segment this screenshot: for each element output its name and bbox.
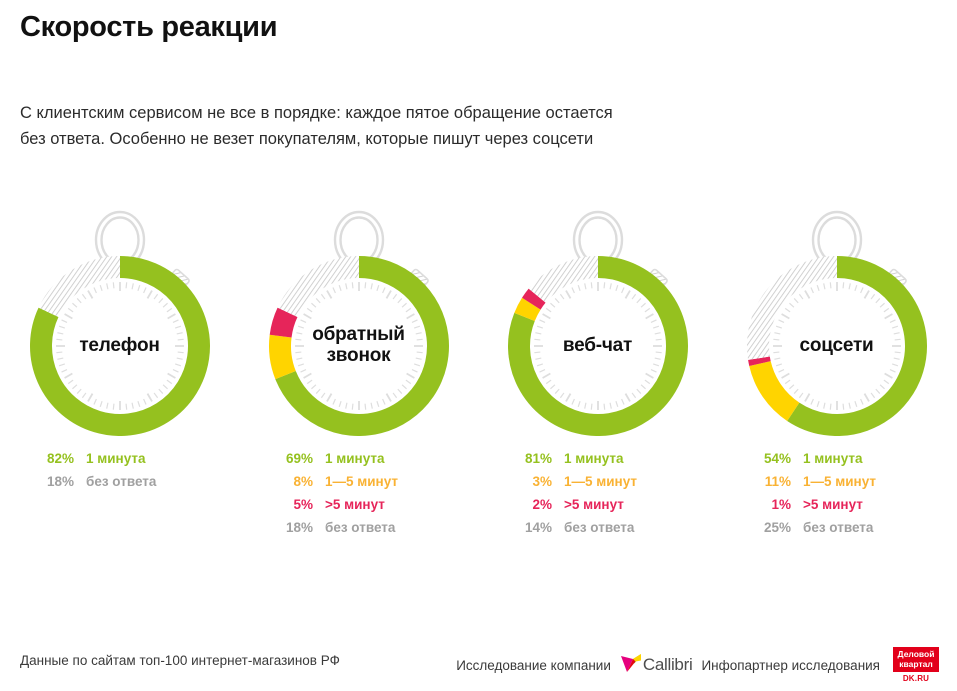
legend-label: без ответа <box>803 521 876 544</box>
legend-row: 69%1 минута <box>267 452 398 475</box>
chart-legend: 81%1 минута3%1—5 минут2%>5 минут14%без о… <box>478 452 717 544</box>
stopwatch-graphic <box>244 206 474 441</box>
partner-credit-label: Инфопартнер исследования <box>701 658 880 673</box>
donut-segment <box>280 336 286 375</box>
callibri-logo[interactable]: Callibri <box>620 653 693 678</box>
dial-ticks <box>773 282 901 410</box>
page-title: Скорость реакции <box>20 10 920 45</box>
donut-segment <box>531 296 537 304</box>
legend-percent: 8% <box>267 475 325 498</box>
chart-legend: 54%1 минута11%1—5 минут1%>5 минут25%без … <box>717 452 956 544</box>
legend-percent: 25% <box>745 521 803 544</box>
legend-percent: 54% <box>745 452 803 475</box>
dial-ticks <box>295 282 423 410</box>
legend-row: 2%>5 минут <box>506 498 637 521</box>
legend-label: >5 минут <box>325 498 398 521</box>
legend-row: 82%1 минута <box>28 452 156 475</box>
dial-ticks <box>56 282 184 410</box>
callibri-wordmark: Callibri <box>643 655 693 675</box>
legend-label: 1 минута <box>564 452 637 475</box>
chart-legend: 69%1 минута8%1—5 минут5%>5 минут18%без о… <box>239 452 478 544</box>
legend-percent: 81% <box>506 452 564 475</box>
legend-row: 81%1 минута <box>506 452 637 475</box>
legend-label: 1 минута <box>803 452 876 475</box>
legend-row: 8%1—5 минут <box>267 475 398 498</box>
legend-row: 1%>5 минут <box>745 498 876 521</box>
callibri-bird-icon <box>620 653 642 678</box>
legend-percent: 18% <box>267 521 325 544</box>
legend-label: 1 минута <box>86 452 156 475</box>
stopwatch-graphic <box>722 206 952 441</box>
stopwatch-dial <box>5 206 235 436</box>
legend-label: 1—5 минут <box>803 475 876 498</box>
legend-label: >5 минут <box>564 498 637 521</box>
legend-row: 14%без ответа <box>506 521 637 544</box>
header: Скорость реакции С клиентским сервисом н… <box>20 10 920 152</box>
legend-row: 18%без ответа <box>267 521 398 544</box>
dial-ticks <box>534 282 662 410</box>
stopwatch-dial <box>483 206 713 436</box>
chart-legend: 82%1 минута18%без ответа <box>0 452 239 544</box>
legend-percent: 69% <box>267 452 325 475</box>
stopwatch-dial <box>722 206 952 436</box>
footer-data-note: Данные по сайтам топ-100 интернет-магази… <box>20 653 340 668</box>
stopwatch-graphic <box>483 206 713 441</box>
legend-row: 54%1 минута <box>745 452 876 475</box>
page-subtitle: С клиентским сервисом не все в порядке: … <box>20 100 620 152</box>
legend-row: 25%без ответа <box>745 521 876 544</box>
legend-label: >5 минут <box>803 498 876 521</box>
legend-percent: 5% <box>267 498 325 521</box>
legend-percent: 11% <box>745 475 803 498</box>
donut-segment <box>758 358 759 363</box>
donut-segment <box>48 267 119 312</box>
legend-percent: 14% <box>506 521 564 544</box>
donut-segment <box>759 364 792 412</box>
legend-percent: 18% <box>28 475 86 498</box>
legend-label: без ответа <box>325 521 398 544</box>
legend-percent: 3% <box>506 475 564 498</box>
legend-row: 18%без ответа <box>28 475 156 498</box>
stopwatch-chart: телефон <box>0 206 239 456</box>
stopwatch-chart: веб-чат <box>478 206 717 456</box>
legend-row: 3%1—5 минут <box>506 475 637 498</box>
donut-segment <box>524 304 531 317</box>
legend-table: 81%1 минута3%1—5 минут2%>5 минут14%без о… <box>506 452 637 544</box>
dk-line-1: Деловой <box>898 649 935 659</box>
footer-credits: Исследование компании Callibri Инфопартн… <box>456 647 943 683</box>
stopwatch-chart: обратныйзвонок <box>239 206 478 456</box>
delovoy-kvartal-logo[interactable]: Деловой квартал DK.RU <box>889 647 943 683</box>
stopwatch-graphic <box>5 206 235 441</box>
donut-segment <box>287 267 358 312</box>
legend-label: без ответа <box>564 521 637 544</box>
stopwatch-dial <box>244 206 474 436</box>
legend-table: 69%1 минута8%1—5 минут5%>5 минут18%без о… <box>267 452 398 544</box>
legend-percent: 1% <box>745 498 803 521</box>
donut-segment <box>758 267 837 358</box>
legend-percent: 82% <box>28 452 86 475</box>
dk-line-2: квартал <box>899 659 932 669</box>
stopwatch-charts-row: телефонобратныйзвоноквеб-чатсоцсети <box>0 206 957 456</box>
legend-table: 82%1 минута18%без ответа <box>28 452 156 498</box>
legend-label: 1—5 минут <box>325 475 398 498</box>
legend-row: 5%>5 минут <box>267 498 398 521</box>
donut-segment <box>280 312 287 336</box>
donut-segment <box>537 267 598 296</box>
stopwatch-chart: соцсети <box>717 206 956 456</box>
legend-label: без ответа <box>86 475 156 498</box>
research-credit-label: Исследование компании <box>456 658 611 673</box>
legends-row: 82%1 минута18%без ответа69%1 минута8%1—5… <box>0 452 957 544</box>
footer: Данные по сайтам топ-100 интернет-магази… <box>0 639 957 691</box>
legend-row: 11%1—5 минут <box>745 475 876 498</box>
legend-label: 1—5 минут <box>564 475 637 498</box>
legend-table: 54%1 минута11%1—5 минут1%>5 минут25%без … <box>745 452 876 544</box>
legend-percent: 2% <box>506 498 564 521</box>
dk-box: Деловой квартал <box>893 647 939 672</box>
dk-url-label: DK.RU <box>903 674 929 683</box>
legend-label: 1 минута <box>325 452 398 475</box>
